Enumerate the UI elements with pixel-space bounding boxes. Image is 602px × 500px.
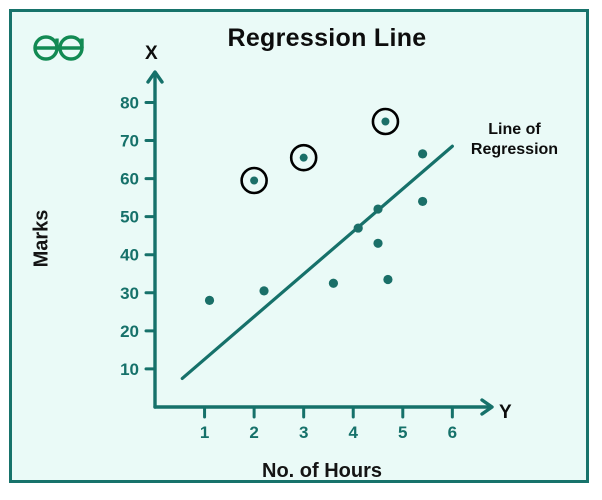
data-point	[418, 197, 427, 206]
y-tick-label: 80	[120, 93, 139, 112]
axis-ticks: 1020304050607080123456	[120, 93, 457, 442]
y-tick-label: 50	[120, 208, 139, 227]
regression-line-path	[182, 146, 452, 378]
scatter-plot: 1020304050607080123456	[12, 12, 592, 486]
regression-line	[182, 146, 452, 378]
x-tick-label: 2	[249, 423, 258, 442]
data-point	[373, 204, 382, 213]
figure-frame: Regression Line Marks No. of Hours X Y L…	[9, 9, 589, 483]
y-tick-label: 10	[120, 360, 139, 379]
y-tick-label: 20	[120, 322, 139, 341]
y-tick-label: 60	[120, 170, 139, 189]
x-tick-label: 5	[398, 423, 407, 442]
data-point	[259, 286, 268, 295]
data-point	[354, 223, 363, 232]
x-tick-label: 4	[349, 423, 359, 442]
x-tick-label: 3	[299, 423, 308, 442]
data-points	[205, 109, 427, 305]
x-tick-label: 1	[200, 423, 209, 442]
y-tick-label: 70	[120, 132, 139, 151]
y-tick-label: 30	[120, 284, 139, 303]
y-tick-label: 40	[120, 246, 139, 265]
data-point	[205, 296, 214, 305]
data-point	[250, 176, 258, 184]
data-point	[300, 154, 308, 162]
data-point	[418, 149, 427, 158]
data-point	[381, 117, 389, 125]
data-point	[383, 275, 392, 284]
x-tick-label: 6	[448, 423, 457, 442]
data-point	[373, 239, 382, 248]
data-point	[329, 279, 338, 288]
